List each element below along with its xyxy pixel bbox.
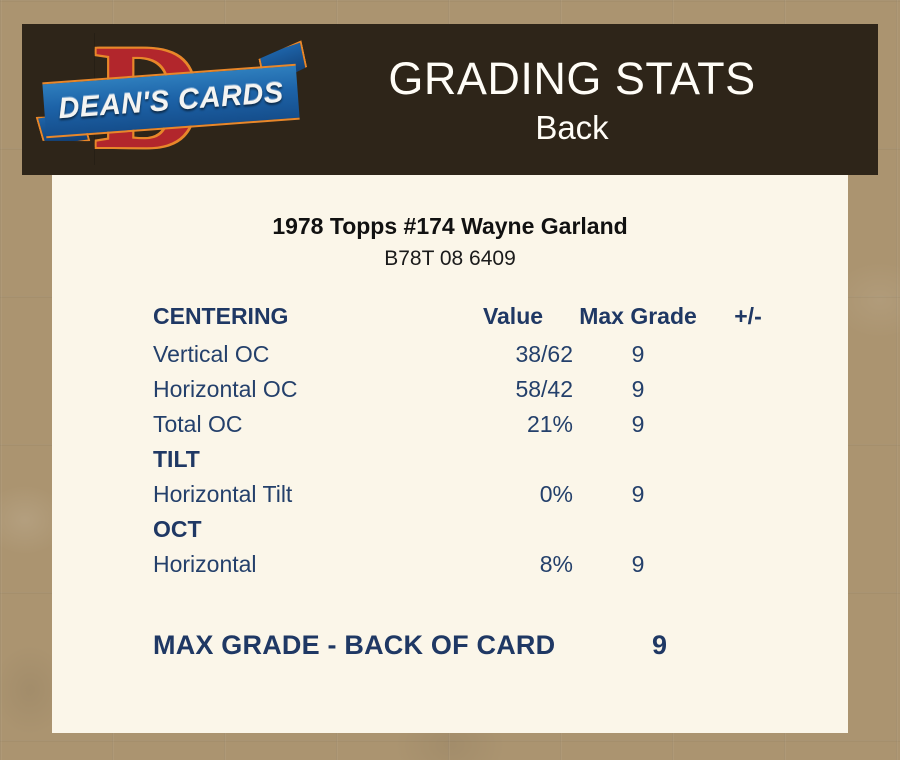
content-panel: 1978 Topps #174 Wayne Garland B78T 08 64… bbox=[52, 175, 848, 733]
header-title-group: GRADING STATS Back bbox=[302, 51, 878, 149]
table-row: Horizontal Tilt 0% 9 bbox=[153, 481, 793, 516]
card-title: 1978 Topps #174 Wayne Garland bbox=[52, 209, 848, 243]
logo-ribbon: DEAN'S CARDS bbox=[42, 64, 299, 138]
page-subtitle: Back bbox=[302, 107, 842, 149]
table-row: Vertical OC 38/62 9 bbox=[153, 341, 793, 376]
table-row: Total OC 21% 9 bbox=[153, 411, 793, 446]
row-label: Vertical OC bbox=[153, 341, 453, 376]
row-max-grade: 9 bbox=[573, 411, 703, 446]
row-value: 0% bbox=[453, 481, 573, 516]
section-header-tilt: TILT bbox=[153, 446, 793, 481]
section-grade-spacer bbox=[573, 516, 703, 551]
row-value: 38/62 bbox=[453, 341, 573, 376]
row-max-grade: 9 bbox=[573, 551, 703, 586]
column-header-value: Value bbox=[453, 303, 573, 341]
table-row: Horizontal OC 58/42 9 bbox=[153, 376, 793, 411]
section-value-spacer bbox=[453, 516, 573, 551]
grading-stats-table: CENTERING Value Max Grade +/- Vertical O… bbox=[153, 303, 793, 586]
section-pm-spacer bbox=[703, 516, 793, 551]
row-max-grade: 9 bbox=[573, 376, 703, 411]
section-header-oct: OCT bbox=[153, 516, 793, 551]
row-label: Total OC bbox=[153, 411, 453, 446]
logo-ribbon-text: DEAN'S CARDS bbox=[57, 76, 284, 125]
page-title: GRADING STATS bbox=[302, 51, 842, 107]
max-grade-label: MAX GRADE - BACK OF CARD bbox=[153, 630, 555, 661]
row-value: 8% bbox=[453, 551, 573, 586]
row-label: Horizontal OC bbox=[153, 376, 453, 411]
row-max-grade: 9 bbox=[573, 341, 703, 376]
deans-cards-logo[interactable]: D DEAN'S CARDS bbox=[46, 27, 302, 172]
max-grade-summary: MAX GRADE - BACK OF CARD 9 bbox=[153, 630, 793, 661]
section-pm-spacer bbox=[703, 446, 793, 481]
section-label: TILT bbox=[153, 446, 453, 481]
row-plus-minus bbox=[703, 481, 793, 516]
row-label: Horizontal Tilt bbox=[153, 481, 453, 516]
row-label: Horizontal bbox=[153, 551, 453, 586]
row-value: 58/42 bbox=[453, 376, 573, 411]
stats-table-body: CENTERING Value Max Grade +/- Vertical O… bbox=[153, 303, 793, 586]
section-label: OCT bbox=[153, 516, 453, 551]
row-plus-minus bbox=[703, 376, 793, 411]
column-header-plus-minus: +/- bbox=[703, 303, 793, 341]
section-grade-spacer bbox=[573, 446, 703, 481]
row-plus-minus bbox=[703, 551, 793, 586]
row-plus-minus bbox=[703, 341, 793, 376]
header-bar: D DEAN'S CARDS GRADING STATS Back bbox=[22, 24, 878, 175]
table-header-row: CENTERING Value Max Grade +/- bbox=[153, 303, 793, 341]
card-serial-number: B78T 08 6409 bbox=[52, 243, 848, 275]
table-row: Horizontal 8% 9 bbox=[153, 551, 793, 586]
column-header-max-grade: Max Grade bbox=[573, 303, 703, 341]
row-plus-minus bbox=[703, 411, 793, 446]
row-value: 21% bbox=[453, 411, 573, 446]
row-max-grade: 9 bbox=[573, 481, 703, 516]
max-grade-value: 9 bbox=[652, 630, 667, 661]
column-header-section: CENTERING bbox=[153, 303, 453, 341]
section-value-spacer bbox=[453, 446, 573, 481]
